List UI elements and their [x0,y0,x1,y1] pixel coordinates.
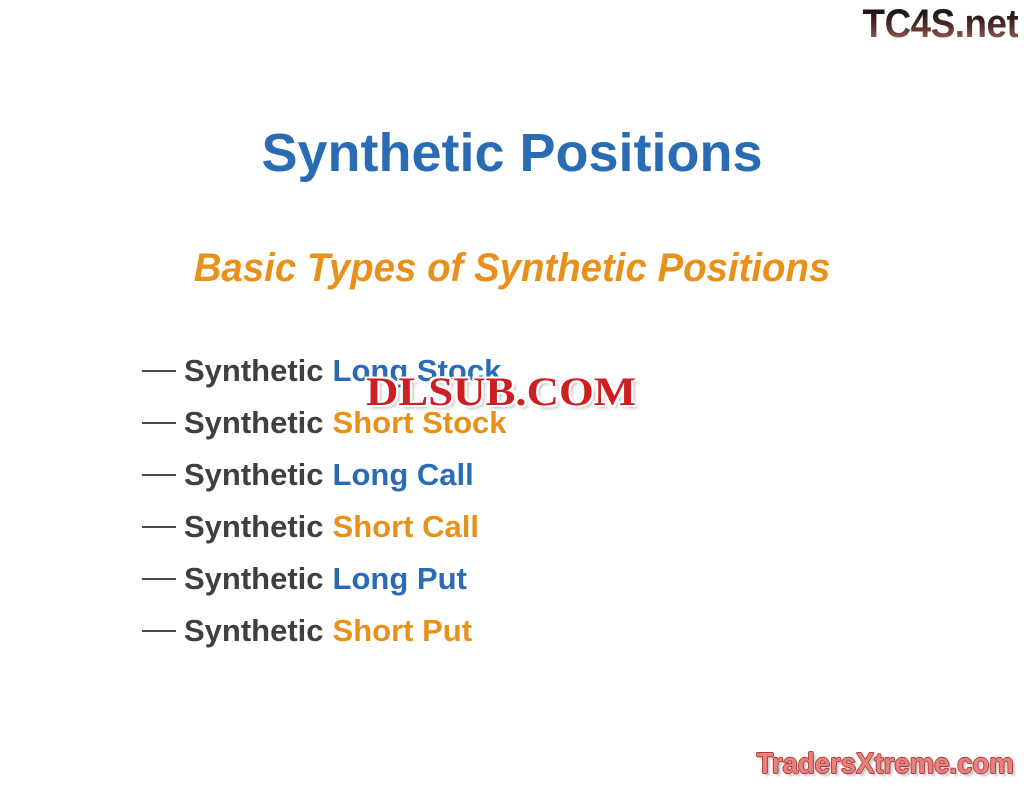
list-item: Synthetic Long Call [142,456,842,508]
dash-bullet-icon [142,422,176,424]
bullet-lead-word: Synthetic [184,560,324,598]
dlsub-watermark: DLSUB.COM [366,369,636,415]
slide-title: Synthetic Positions [0,124,1024,182]
list-item: Synthetic Short Put [142,612,842,664]
slide-subtitle: Basic Types of Synthetic Positions [20,245,1003,291]
bullet-lead-word: Synthetic [184,456,324,494]
bullet-term-short-put: Short Put [333,612,473,650]
tc4s-logo: TC4S.net [862,2,1018,46]
list-item: Synthetic Long Put [142,560,842,612]
bullet-lead-word: Synthetic [184,612,324,650]
bullet-term-long-call: Long Call [333,456,474,494]
dash-bullet-icon [142,578,176,580]
dash-bullet-icon [142,630,176,632]
presentation-slide: TC4S.net Synthetic Positions Basic Types… [0,0,1024,791]
list-item: Synthetic Short Call [142,508,842,560]
bullet-lead-word: Synthetic [184,508,324,546]
dash-bullet-icon [142,474,176,476]
dash-bullet-icon [142,526,176,528]
bullet-term-long-put: Long Put [333,560,467,598]
bullet-lead-word: Synthetic [184,352,324,390]
bullet-lead-word: Synthetic [184,404,324,442]
tradersxtreme-logo: TradersXtreme.com [757,747,1014,781]
bullet-term-short-call: Short Call [333,508,479,546]
dash-bullet-icon [142,370,176,372]
